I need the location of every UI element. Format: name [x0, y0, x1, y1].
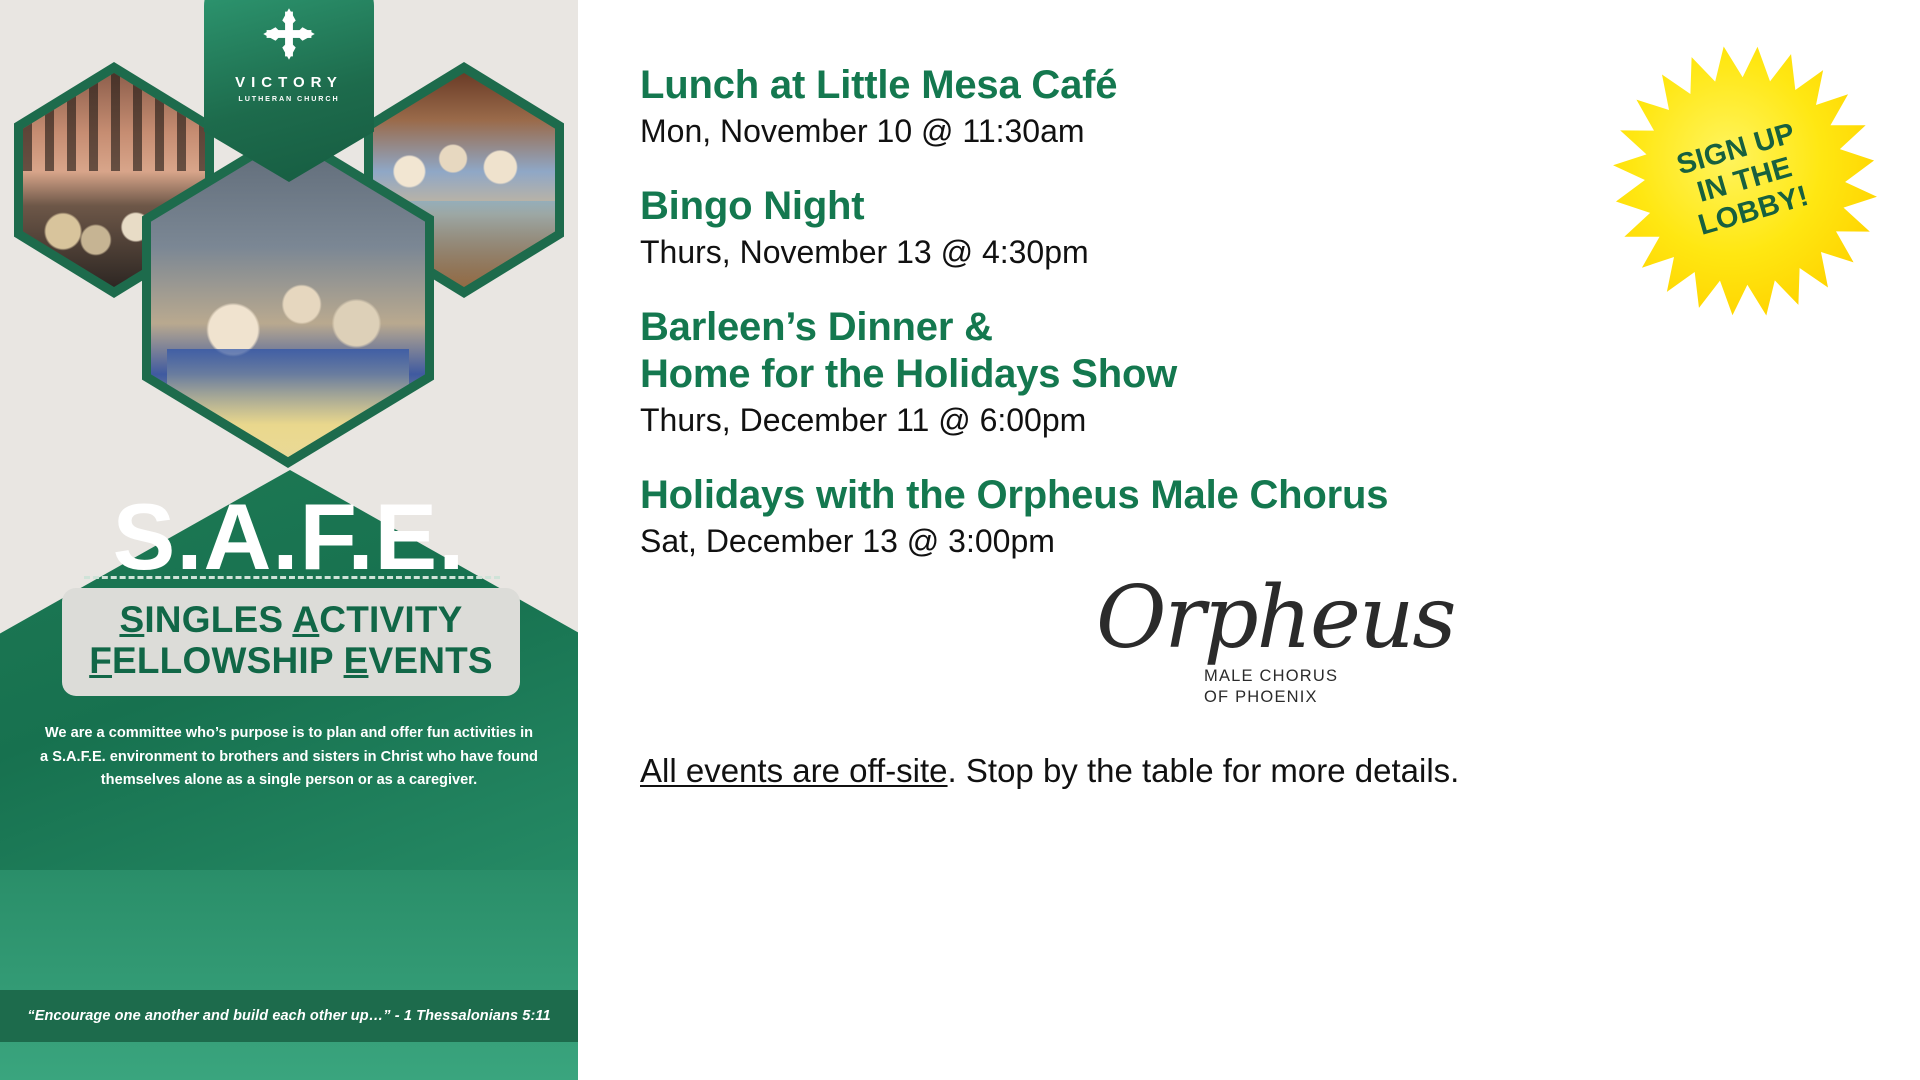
events-list: Lunch at Little Mesa Café Mon, November …	[640, 62, 1700, 562]
orpheus-male-chorus-logo: Orpheus MALE CHORUS OF PHOENIX	[1096, 580, 1366, 715]
safe-description-line-3: themselves alone as a single person or a…	[30, 769, 548, 793]
safe-description-line-2: a S.A.F.E. environment to brothers and s…	[30, 746, 548, 770]
offsite-footnote-rest: . Stop by the table for more details.	[948, 752, 1460, 789]
safe-expansion-box: SINGLES ACTIVITY FELLOWSHIP EVENTS	[62, 588, 520, 696]
event-title-line-2: Home for the Holidays Show	[640, 351, 1700, 398]
events-panel: Lunch at Little Mesa Café Mon, November …	[578, 0, 1920, 1080]
sign-up-starburst[interactable]: SIGN UP IN THE LOBBY!	[1586, 22, 1904, 340]
safe-initial-a: A	[292, 599, 319, 640]
event-datetime: Thurs, November 13 @ 4:30pm	[640, 232, 1700, 274]
safe-initial-e: E	[344, 640, 369, 681]
event-title: Holidays with the Orpheus Male Chorus	[640, 472, 1700, 519]
scripture-quote-band: “Encourage one another and build each ot…	[0, 990, 578, 1042]
offsite-footnote-emphasis: All events are off-site	[640, 752, 948, 789]
green-lower-block	[0, 870, 578, 1080]
offsite-footnote: All events are off-site. Stop by the tab…	[640, 752, 1459, 790]
safe-initial-s: S	[119, 599, 144, 640]
event-item-bingo-night: Bingo Night Thurs, November 13 @ 4:30pm	[640, 183, 1700, 274]
safe-expansion-line-2: FELLOWSHIP EVENTS	[72, 640, 510, 681]
safe-initial-f: F	[89, 640, 112, 681]
safe-description-line-1: We are a committee who’s purpose is to p…	[30, 722, 548, 746]
left-identity-panel: VICTORY LUTHERAN CHURCH S.A.F.E. SINGLES…	[0, 0, 578, 1080]
event-title: Lunch at Little Mesa Café	[640, 62, 1700, 109]
orpheus-wordmark: Orpheus	[1096, 580, 1366, 657]
safe-acronym-title: S.A.F.E.	[0, 490, 578, 584]
event-title: Barleen’s Dinner &	[640, 304, 1700, 351]
victory-lutheran-logo-badge: VICTORY LUTHERAN CHURCH	[204, 0, 374, 182]
orpheus-sublines: MALE CHORUS OF PHOENIX	[1204, 666, 1338, 707]
poster-canvas: VICTORY LUTHERAN CHURCH S.A.F.E. SINGLES…	[0, 0, 1920, 1080]
event-datetime: Mon, November 10 @ 11:30am	[640, 111, 1700, 153]
scripture-quote: “Encourage one another and build each ot…	[27, 1008, 550, 1024]
dashed-divider	[84, 576, 500, 579]
event-title: Bingo Night	[640, 183, 1700, 230]
event-datetime: Thurs, December 11 @ 6:00pm	[640, 400, 1700, 442]
cross-icon	[261, 6, 317, 62]
event-item-barleens-dinner-show: Barleen’s Dinner & Home for the Holidays…	[640, 304, 1700, 442]
brand-name: VICTORY	[235, 74, 343, 91]
safe-description: We are a committee who’s purpose is to p…	[30, 722, 548, 793]
safe-expansion-line-1: SINGLES ACTIVITY	[72, 599, 510, 640]
brand-subtitle: LUTHERAN CHURCH	[238, 94, 339, 103]
orpheus-subline-2: OF PHOENIX	[1204, 687, 1338, 708]
orpheus-subline-1: MALE CHORUS	[1204, 666, 1338, 687]
event-item-lunch-little-mesa-cafe: Lunch at Little Mesa Café Mon, November …	[640, 62, 1700, 153]
event-datetime: Sat, December 13 @ 3:00pm	[640, 521, 1700, 563]
event-item-orpheus-male-chorus: Holidays with the Orpheus Male Chorus Sa…	[640, 472, 1700, 563]
